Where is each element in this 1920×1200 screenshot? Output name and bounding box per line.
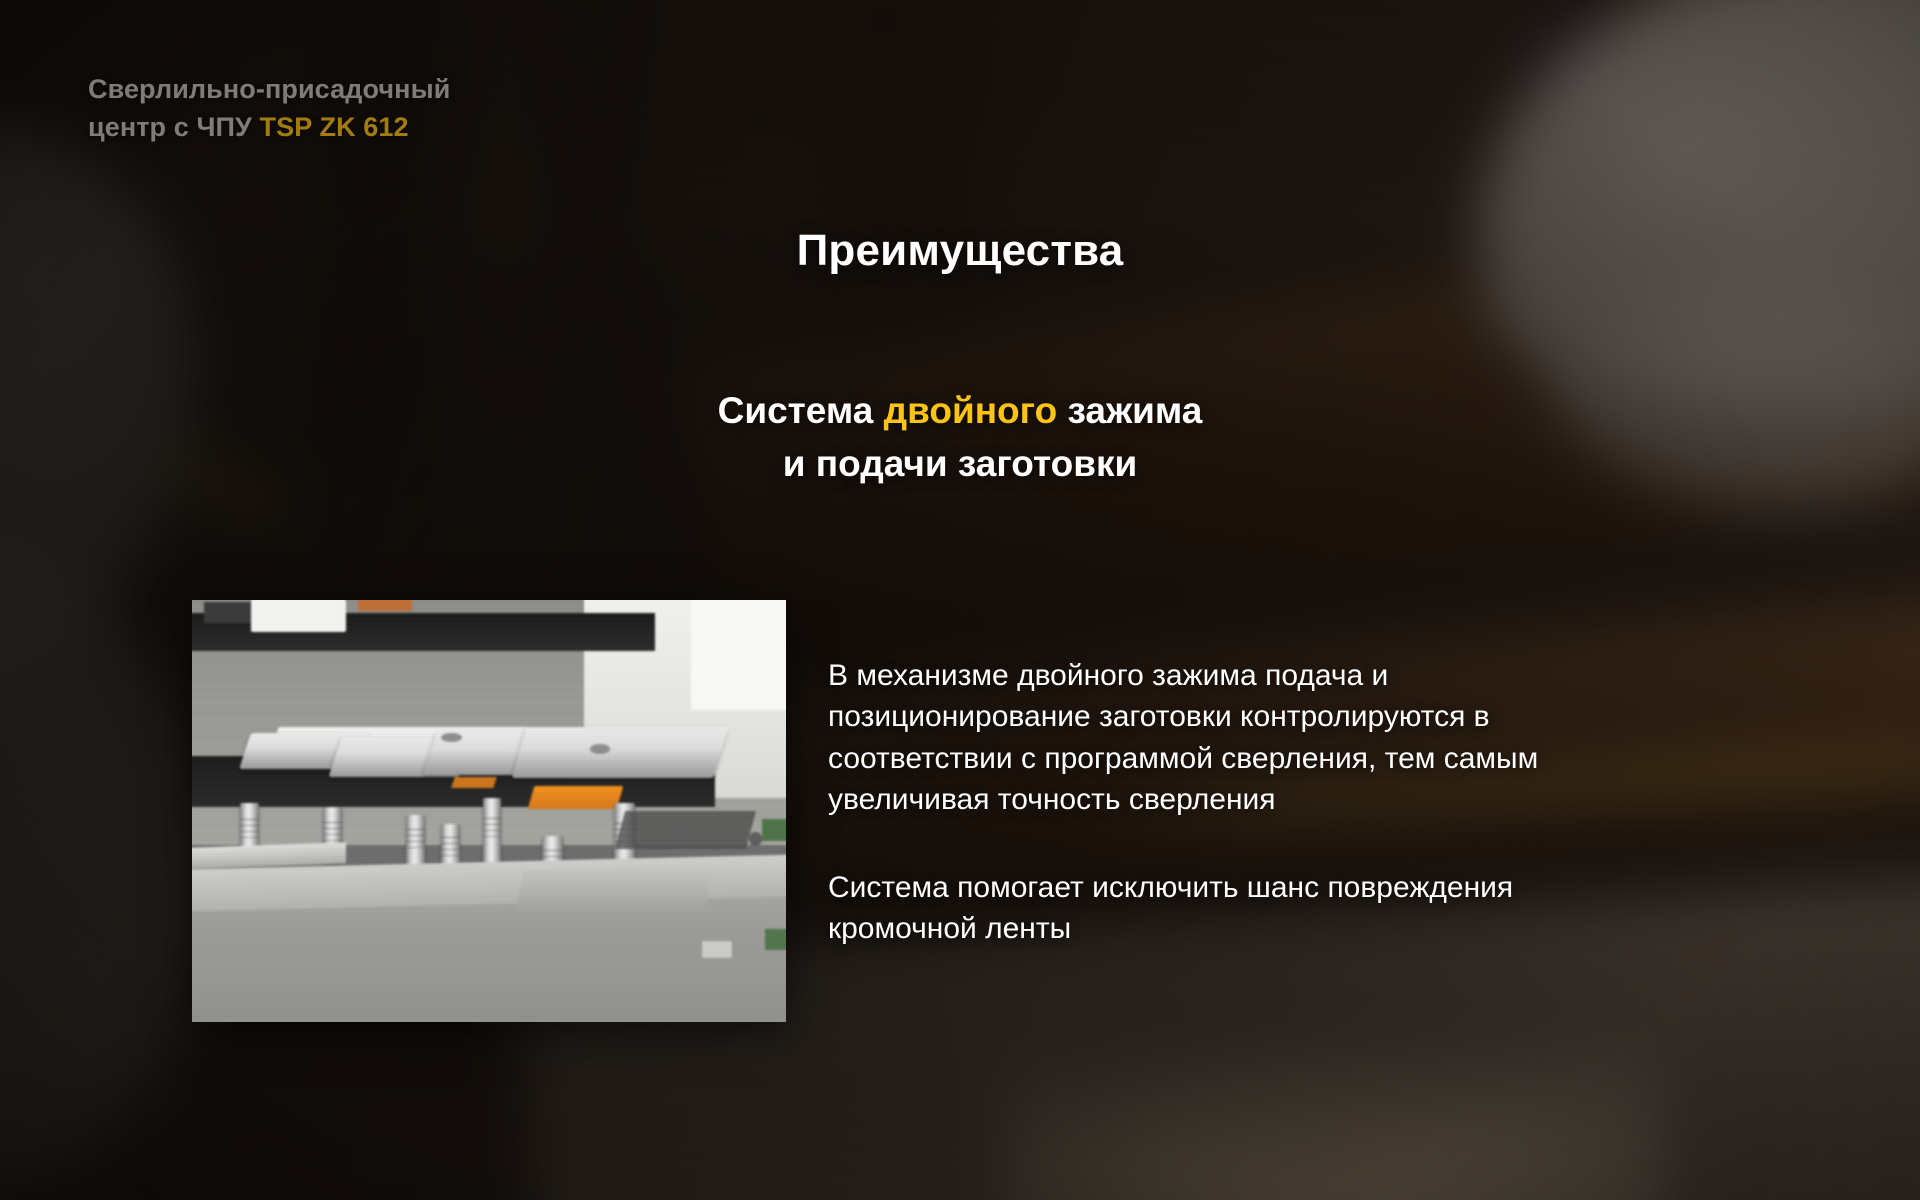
photo-table-hole — [749, 832, 762, 846]
photo-machine-top-box — [251, 600, 346, 632]
photo-machine-panel-white-upper — [691, 600, 786, 710]
photo-pneumatic-cylinder — [406, 815, 425, 866]
machine-photo-inner — [192, 600, 786, 1022]
slide-content: Сверлильно-присадочный центр с ЧПУ TSP Z… — [0, 0, 1920, 1200]
photo-pneumatic-cylinder — [483, 798, 501, 870]
slide-header-product-name: Сверлильно-присадочный центр с ЧПУ TSP Z… — [88, 70, 450, 147]
machine-photo — [192, 600, 786, 1022]
slide-subtitle: Система двойного зажима и подачи заготов… — [0, 385, 1920, 490]
photo-table-hole — [678, 824, 691, 838]
body-paragraph-1: В механизме двойного зажима подача и поз… — [828, 655, 1618, 821]
header-line-2-prefix: центр с ЧПУ — [88, 112, 260, 142]
header-line-1: Сверлильно-присадочный — [88, 74, 450, 104]
body-paragraph-2: Система помогает исключить шанс поврежде… — [828, 867, 1618, 950]
photo-orange-clamp-small — [452, 777, 497, 788]
subtitle-line2: и подачи заготовки — [783, 443, 1137, 484]
header-model-name: TSP ZK 612 — [260, 112, 409, 142]
photo-machine-top-bracket — [204, 602, 252, 623]
photo-green-component — [762, 819, 786, 840]
page-title: Преимущества — [0, 226, 1920, 276]
presentation-slide: Сверлильно-присадочный центр с ЧПУ TSP Z… — [0, 0, 1920, 1200]
photo-orange-clamp — [527, 786, 623, 809]
photo-clamp-beam — [511, 727, 727, 778]
photo-base-plate — [513, 870, 714, 912]
photo-green-component-lower — [765, 929, 786, 950]
photo-table-hole — [714, 828, 727, 842]
photo-guide-rail — [192, 842, 346, 868]
photo-clamp-beam-hole — [441, 733, 461, 742]
photo-orange-detail-top — [358, 600, 411, 611]
photo-clamp-beam-hole — [590, 744, 610, 753]
subtitle-highlight: двойного — [884, 390, 1058, 431]
photo-bolt-fixture — [701, 940, 733, 959]
subtitle-line1-after: зажима — [1057, 390, 1202, 431]
subtitle-line1-before: Система — [718, 390, 884, 431]
body-text-column: В механизме двойного зажима подача и поз… — [828, 655, 1618, 949]
